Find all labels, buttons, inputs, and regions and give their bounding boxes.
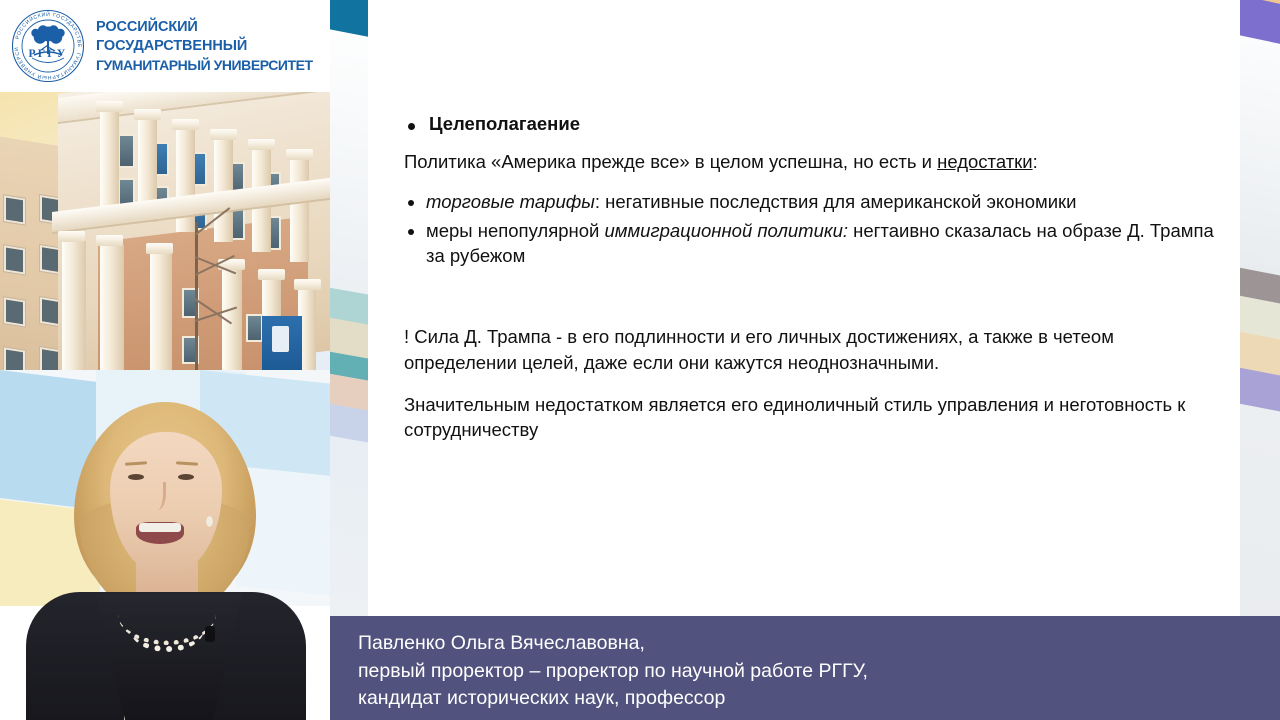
slide-sub-bullet-list: торговые тарифы: негативные последствия … — [404, 190, 1216, 268]
speaker-caption-text: Павленко Ольга Вячеславовна, первый прор… — [358, 630, 868, 713]
speaker-earring — [206, 516, 213, 527]
rggu-tree-emblem-icon: РОССИЙСКИЙ ГОСУДАРСТВЕННЫЙ ГУМАНИТАРНЫЙ … — [10, 8, 86, 84]
caption-line-name: Павленко Ольга Вячеславовна, — [358, 630, 868, 658]
bullet-dot-icon — [408, 229, 414, 235]
slide-intro-paragraph: Политика «Америка прежде все» в целом ус… — [404, 149, 1216, 174]
university-name-line-1: РОССИЙСКИЙ — [96, 18, 313, 37]
photo-bare-tree — [195, 222, 198, 370]
bullet-dot-icon — [408, 123, 415, 130]
sub-item-emphasis: торговые тарифы — [426, 191, 595, 212]
right-decorative-stripe — [1240, 0, 1280, 720]
slide-intro-text-after: : — [1033, 151, 1038, 172]
bullet-dot-icon — [408, 200, 414, 206]
slide-canvas: Целеполагаение Политика «Америка прежде … — [368, 0, 1240, 720]
university-name-line-2: ГОСУДАРСТВЕННЫЙ — [96, 37, 313, 56]
caption-line-role: первый проректор – проректор по научной … — [358, 658, 868, 686]
speaker-mouth — [136, 522, 184, 544]
university-name: РОССИЙСКИЙ ГОСУДАРСТВЕННЫЙ ГУМАНИТАРНЫЙ … — [96, 18, 313, 75]
slide-heading: Целеполагаение — [429, 112, 580, 137]
slide-intro-text-before: Политика «Америка прежде все» в целом ус… — [404, 151, 937, 172]
sub-item-emphasis: иммиграционной политики: — [605, 220, 849, 241]
presentation-stream-frame: РОССИЙСКИЙ ГОСУДАРСТВЕННЫЙ ГУМАНИТАРНЫЙ … — [0, 0, 1280, 720]
speaker-video-feed — [0, 370, 330, 720]
university-name-line-3: ГУМАНИТАРНЫЙ УНИВЕРСИТЕТ — [96, 56, 313, 74]
slide-content: Целеполагаение Политика «Америка прежде … — [404, 112, 1216, 443]
university-building-photo — [0, 92, 330, 370]
left-decorative-stripe — [330, 0, 368, 720]
slide-intro-underlined: недостатки — [937, 151, 1032, 172]
left-sidebar: РОССИЙСКИЙ ГОСУДАРСТВЕННЫЙ ГУМАНИТАРНЫЙ … — [0, 0, 330, 720]
list-item: торговые тарифы: негативные последствия … — [404, 190, 1216, 215]
sub-item-rest: : негативные последствия для американско… — [595, 191, 1077, 212]
svg-text:РГГУ: РГГУ — [29, 48, 68, 60]
slide-heading-row: Целеполагаение — [404, 112, 1216, 137]
speaker-pearl-necklace — [130, 606, 204, 652]
caption-line-degree: кандидат исторических наук, профессор — [358, 685, 868, 713]
speaker-caption-bar: Павленко Ольга Вячеславовна, первый прор… — [330, 616, 1280, 720]
list-item: меры непопулярной иммиграционной политик… — [404, 219, 1216, 269]
slide-note-primary: ! Сила Д. Трампа - в его подлинности и е… — [404, 324, 1216, 375]
sub-item-lead: меры непопулярной — [426, 220, 605, 241]
lapel-microphone-icon — [205, 626, 215, 642]
photo-entrance-sign — [262, 316, 302, 370]
sub-item-text: торговые тарифы: негативные последствия … — [426, 190, 1077, 215]
slide-note-secondary: Значительным недостатком является его ед… — [404, 392, 1216, 443]
speaker-portrait — [0, 370, 330, 720]
university-branding-header: РОССИЙСКИЙ ГОСУДАРСТВЕННЫЙ ГУМАНИТАРНЫЙ … — [0, 0, 330, 92]
slide-notes-block: ! Сила Д. Трампа - в его подлинности и е… — [404, 324, 1216, 442]
sub-item-text: меры непопулярной иммиграционной политик… — [426, 219, 1216, 269]
